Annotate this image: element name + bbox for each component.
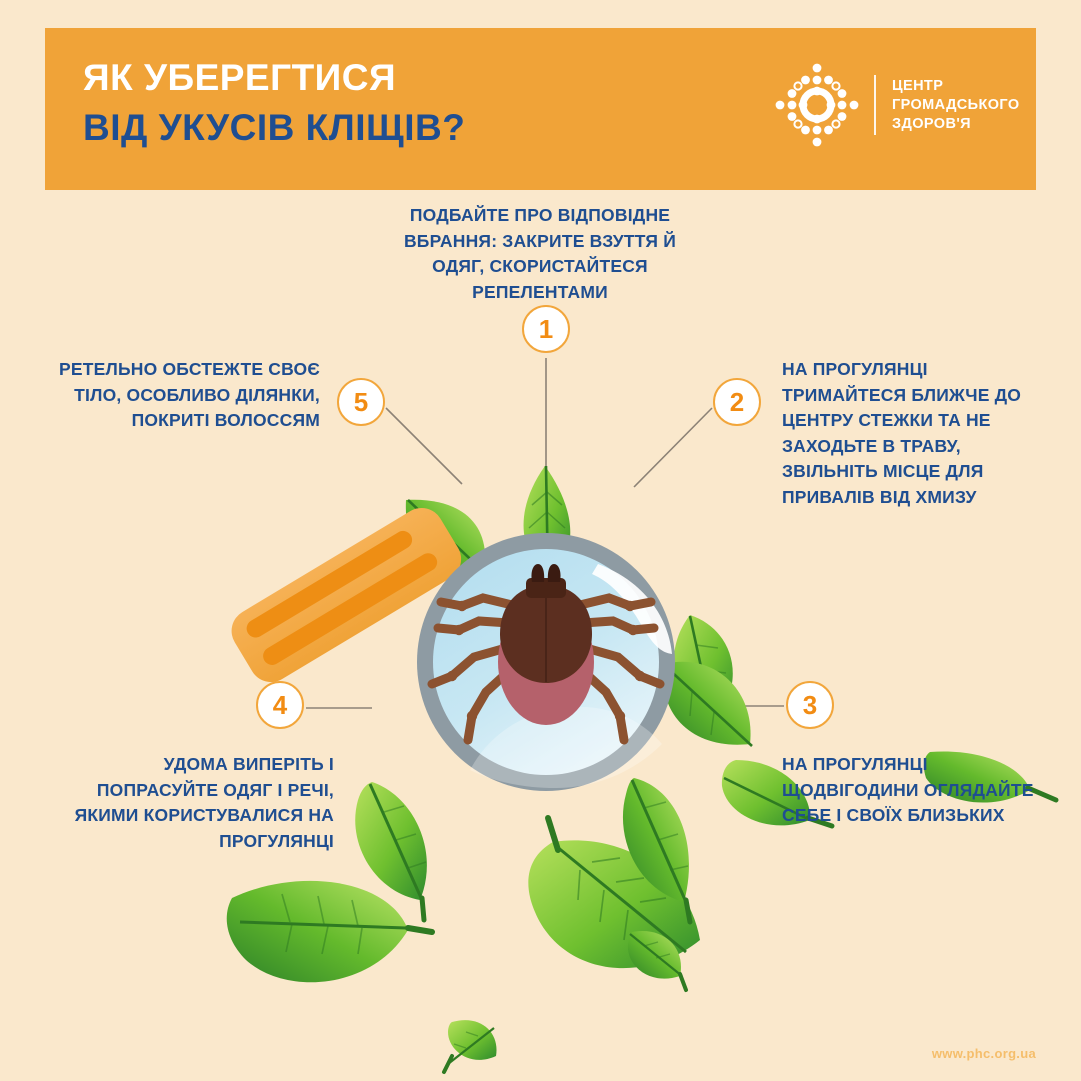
tip-text-3: НА ПРОГУЛЯНЦІ ЩОДВІГОДИНИ ОГЛЯДАЙТЕ СЕБЕ… — [782, 752, 1042, 829]
step-badge-3[interactable]: 3 — [786, 681, 834, 729]
step-badge-5[interactable]: 5 — [337, 378, 385, 426]
tip-text-4: УДОМА ВИПЕРІТЬ І ПОПРАСУЙТЕ ОДЯГ І РЕЧІ,… — [44, 752, 334, 854]
leaf-lower-right — [663, 662, 752, 746]
tip-text-1: ПОДБАЙТЕ ПРО ВІДПОВІДНЕ ВБРАННЯ: ЗАКРИТЕ… — [380, 203, 700, 305]
tip-text-5: РЕТЕЛЬНО ОБСТЕЖТЕ СВОЄ ТІЛО, ОСОБЛИВО ДІ… — [44, 357, 320, 434]
tip-text-2: НА ПРОГУЛЯНЦІ ТРИМАЙТЕСЯ БЛИЖЧЕ ДО ЦЕНТР… — [782, 357, 1042, 510]
infographic-canvas: ЯК УБЕРЕГТИСЯ ВІД УКУСІВ КЛІЩІВ? — [0, 0, 1081, 1081]
step-badge-2[interactable]: 2 — [713, 378, 761, 426]
central-illustration — [0, 0, 1081, 1081]
step-badge-4[interactable]: 4 — [256, 681, 304, 729]
step-badge-1[interactable]: 1 — [522, 305, 570, 353]
website-url[interactable]: www.phc.org.ua — [932, 1046, 1036, 1061]
